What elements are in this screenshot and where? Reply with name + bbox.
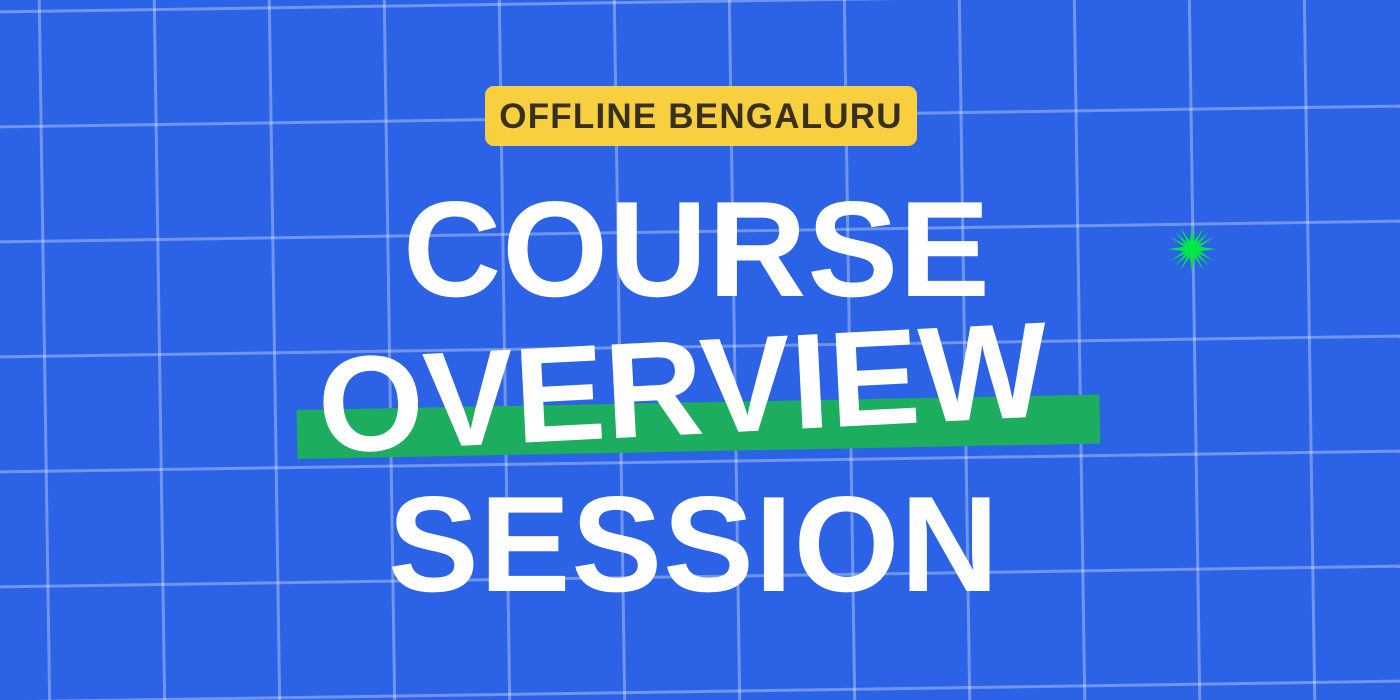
grid-line-horizontal [0,677,1400,700]
event-type-badge-label: OFFLINE BENGALURU [499,99,902,134]
headline-line-overview: OVERVIEW [315,301,1051,474]
grid-line-vertical [36,0,54,700]
promo-poster: OFFLINE BENGALURU COURSE OVERVIEW SESSIO… [0,0,1400,700]
event-type-badge: OFFLINE BENGALURU [485,86,917,146]
grid-line-vertical [265,0,283,700]
headline-line-overview-group: OVERVIEW [300,318,1100,468]
sparkle-icon [1168,225,1216,273]
grid-line-vertical [150,0,168,700]
headline-line-session: SESSION [388,476,1000,612]
grid-line-horizontal [0,0,1400,16]
headline-line-course: COURSE [403,181,991,317]
grid-line-vertical [1300,0,1318,700]
grid-line-vertical [1185,0,1203,700]
